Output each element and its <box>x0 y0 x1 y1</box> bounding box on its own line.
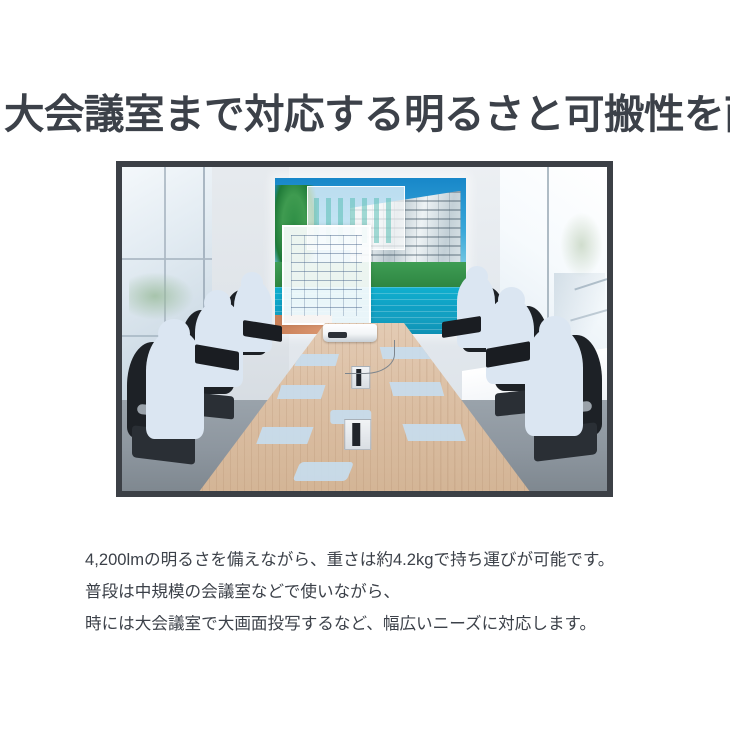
paper-sheet <box>390 382 445 396</box>
page-title: 大会議室まで対応する明るさと可搬性を両立 <box>4 85 730 143</box>
window-foliage <box>560 212 603 278</box>
description-line-2: 普段は中規模の会議室などで使いながら、 <box>85 576 685 608</box>
floorplan-grid <box>291 235 362 316</box>
table-cable-port <box>344 419 371 451</box>
person-head <box>498 287 525 313</box>
person-head <box>539 316 571 345</box>
projector-lens <box>328 332 347 338</box>
paper-sheet <box>277 385 326 399</box>
window-foliage <box>129 272 193 320</box>
paper-sheet <box>293 462 355 481</box>
paper-sheet <box>295 354 339 366</box>
description-line-3: 時には大会議室で大画面投写するなど、幅広いニーズに対応します。 <box>85 608 685 640</box>
projected-screen-image <box>275 178 467 334</box>
person-head <box>204 290 231 316</box>
description-line-1: 4,200lmの明るさを備えながら、重さは約4.2kgで持ち運びが可能です。 <box>85 544 685 576</box>
person-head <box>241 272 263 293</box>
projector-device <box>323 324 376 342</box>
projection-document-overlay-floorplan <box>282 225 370 325</box>
description-text: 4,200lmの明るさを備えながら、重さは約4.2kgで持ち運びが可能です。 普… <box>85 544 685 640</box>
conference-room-photo <box>122 167 607 491</box>
page-root: 大会議室まで対応する明るさと可搬性を両立 <box>0 0 730 730</box>
paper-sheet <box>256 427 313 444</box>
hero-photo-frame <box>116 161 613 497</box>
paper-sheet <box>402 424 465 441</box>
